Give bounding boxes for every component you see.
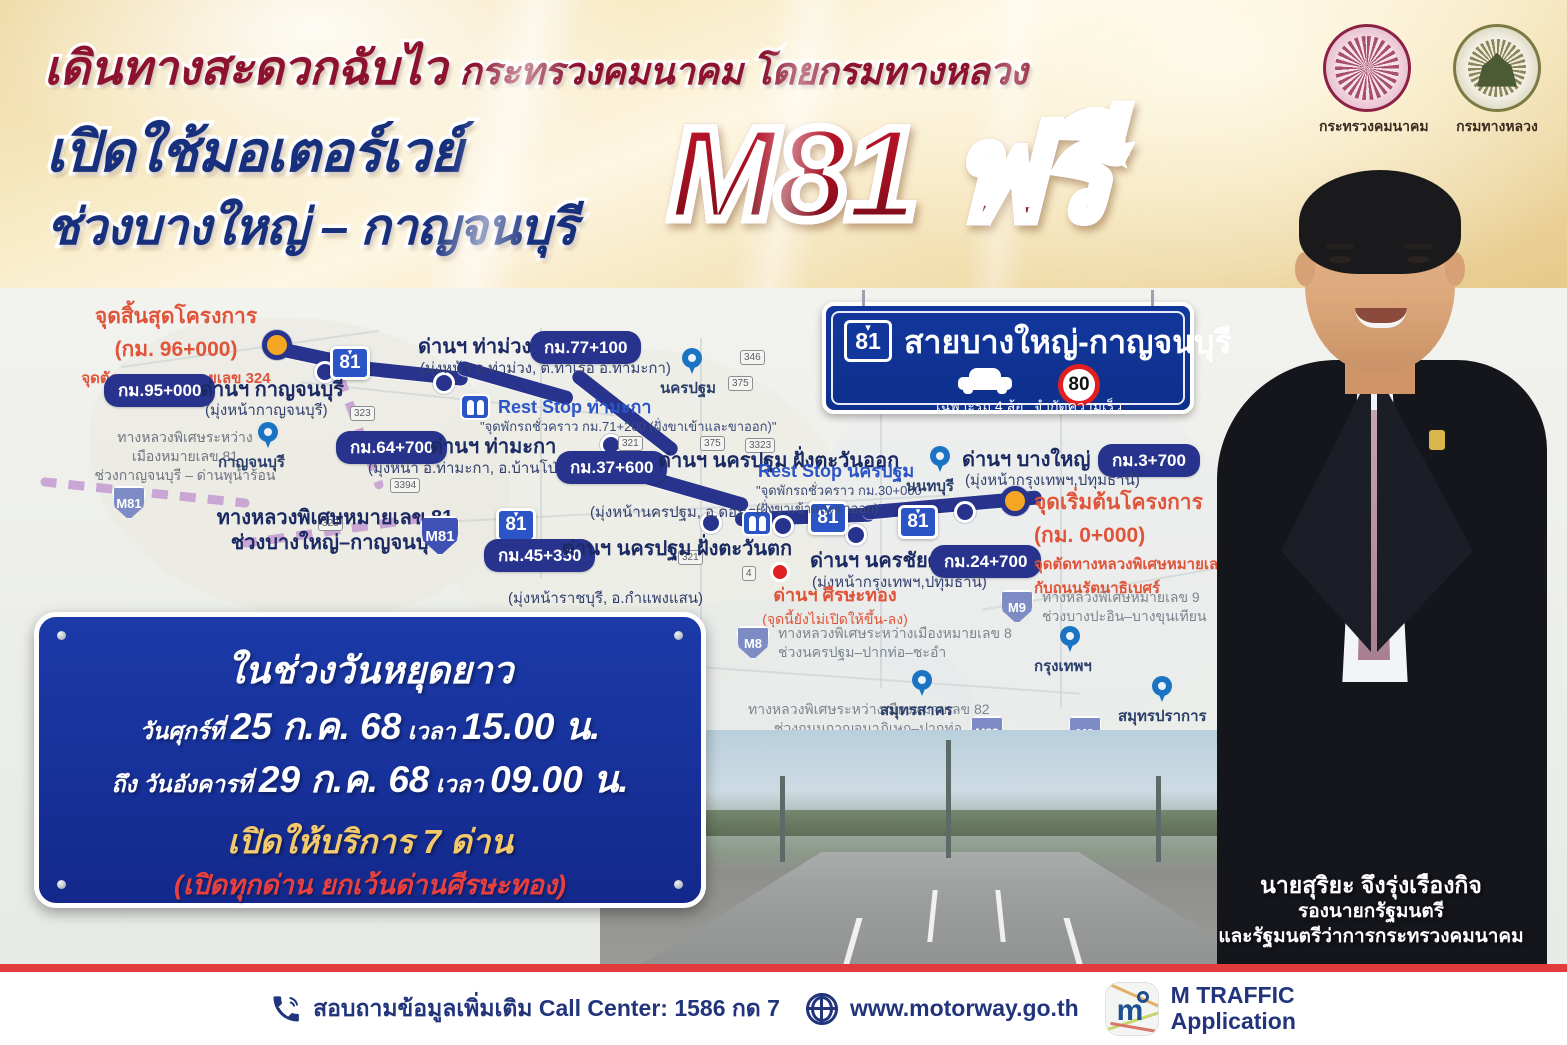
website-text: www.motorway.go.th	[850, 995, 1079, 1022]
small-route-marker: 346	[740, 350, 765, 365]
end-prefix: ถึง วันอังคารที่	[111, 771, 258, 797]
toll-km-tag: กม.37+600	[556, 451, 667, 484]
minister-title-2: และรัฐมนตรีว่าการกระทรวงคมนาคม	[1191, 925, 1551, 949]
ministry-of-transport-seal-icon	[1323, 24, 1411, 112]
panel-screw	[57, 631, 66, 640]
photo-light-pole	[946, 740, 951, 858]
minister-eye-right	[1407, 256, 1429, 263]
info-panel-toll-count: เปิดให้บริการ 7 ด่าน	[39, 815, 701, 868]
city-label-bangkok: กรุงเทพฯ	[1034, 654, 1092, 678]
car-icon	[958, 368, 1012, 394]
small-route-marker: 323	[350, 406, 375, 421]
small-route-marker: 321	[618, 436, 643, 451]
city-label-nonthaburi: นนทบุรี	[906, 474, 954, 498]
minister-brow-right	[1404, 244, 1432, 249]
end-date: 29 ก.ค. 68	[259, 759, 430, 800]
minister-name: นายสุริยะ จึงรุ่งเรืองกิจ	[1191, 871, 1551, 900]
m82-line1: ทางหลวงพิเศษระหว่างเมืองหมายเลข 82	[748, 701, 990, 717]
headline-segment: ช่วงบางใหญ่ – กาญจนบุรี	[46, 188, 576, 267]
headline-primary: เดินทางสะดวกฉับไว กระทรวงคมนาคม โดยกรมทา…	[44, 30, 1027, 105]
m8-line1: ทางหลวงพิเศษระหว่างเมืองหมายเลข 8	[778, 625, 1012, 641]
start-time: 15.00 น.	[462, 706, 600, 747]
toll-direction: (มุ่งหน้า อ.ท่ามะกา, อ.บ้านโป่ง)	[368, 456, 569, 480]
minister-eye-left	[1329, 256, 1351, 263]
footer-call-center[interactable]: สอบถามข้อมูลเพิ่มเติม Call Center: 1586 …	[271, 991, 780, 1027]
city-pin-icon	[1152, 676, 1172, 702]
route-sign-vehicle-caption: เฉพาะรถ 4 ล้อ	[936, 396, 1023, 418]
department-of-highways-seal-icon	[1453, 24, 1541, 112]
holiday-info-panel: ในช่วงวันหยุดยาว วันศุกร์ที่ 25 ก.ค. 68 …	[34, 612, 706, 908]
app-name-line1: M TRAFFIC	[1171, 983, 1296, 1009]
m-traffic-app-icon: m	[1105, 982, 1159, 1036]
m8-line2: ช่วงนครปฐม–ปากท่อ–ชะอำ	[778, 644, 946, 660]
minister-portrait	[1177, 120, 1567, 964]
app-name: M TRAFFIC Application	[1171, 983, 1296, 1035]
footer-website[interactable]: www.motorway.go.th	[806, 993, 1079, 1025]
footer-red-divider	[0, 964, 1567, 972]
toll-direction: (มุ่งหน้า อ.ท่าม่วง, ต.ท่าเรือ อ.ท่ามะกา…	[420, 356, 671, 380]
photo-light-pole	[780, 776, 785, 862]
city-label-nakhonpathom: นครปฐม	[660, 376, 716, 400]
footer-bar: สอบถามข้อมูลเพิ่มเติม Call Center: 1586 …	[0, 972, 1567, 1045]
headline-primary-text: เดินทางสะดวกฉับไว	[44, 41, 447, 94]
minister-brow-left	[1326, 244, 1354, 249]
rest-stop-detail-2: (ฝั่งขาเข้าและขาออก)"	[756, 498, 883, 519]
footer-app[interactable]: m M TRAFFIC Application	[1105, 982, 1296, 1036]
small-route-marker: 375	[728, 376, 753, 391]
route-sign-shield: ▾ 81	[844, 320, 892, 362]
toll-direction: (มุ่งหน้ากาญจนบุรี)	[205, 398, 328, 422]
shield-tick-icon: ▾	[865, 323, 871, 334]
poster-root: เดินทางสะดวกฉับไว กระทรวงคมนาคม โดยกรมทา…	[0, 0, 1567, 1045]
shield-tick-icon: ▾	[348, 348, 353, 357]
city-label-kanchanaburi: กาญจนบุรี	[218, 450, 285, 474]
city-pin-icon	[682, 348, 702, 374]
toll-km-tag: กม.95+000	[104, 374, 215, 407]
project-end-title: จุดสิ้นสุดโครงการ	[76, 300, 276, 333]
city-pin-icon	[258, 422, 278, 448]
route-81-shield: ▾ 81	[898, 505, 938, 539]
minister-credit: นายสุริยะ จึงรุ่งเรืองกิจ รองนายกรัฐมนตร…	[1191, 871, 1551, 949]
start-prefix: วันศุกร์ที่	[140, 718, 231, 744]
city-label-samutsakhon: สมุทรสาคร	[880, 698, 953, 722]
app-name-line2: Application	[1171, 1009, 1296, 1035]
toll-direction: (มุ่งหน้าราชบุรี, อ.กำแพงแสน)	[508, 586, 703, 610]
photo-roadway	[630, 852, 1270, 964]
city-pin-icon	[930, 446, 950, 472]
panel-screw	[674, 631, 683, 640]
small-route-marker: 375	[700, 436, 725, 451]
info-panel-heading: ในช่วงวันหยุดยาว	[39, 641, 701, 700]
call-center-text: สอบถามข้อมูลเพิ่มเติม Call Center: 1586 …	[313, 991, 780, 1027]
phone-icon	[271, 994, 301, 1024]
closed-toll-name: ด่านฯ ศีรษะทอง	[740, 580, 930, 609]
start-mid: เวลา	[401, 718, 462, 744]
photo-light-pole	[1156, 776, 1161, 862]
m8-label: ทางหลวงพิเศษระหว่างเมืองหมายเลข 8 ช่วงนค…	[778, 624, 1012, 662]
route-sign-speed-caption: จำกัดความเร็ว	[1034, 396, 1122, 418]
m81-main-label-line1: ทางหลวงพิเศษหมายเลข 81	[217, 507, 453, 529]
minister-lapel-pin-icon	[1429, 430, 1445, 450]
toll-name: ด่านฯ นครปฐม ฝั่งตะวันตก	[562, 538, 792, 561]
interchange-node	[845, 524, 867, 546]
minister-title-1: รองนายกรัฐมนตรี	[1191, 900, 1551, 924]
city-pin-icon	[912, 670, 932, 696]
closed-toll-marker-icon	[770, 562, 790, 582]
interchange-node	[954, 501, 976, 523]
end-mid: เวลา	[430, 771, 491, 797]
info-panel-start-row: วันศุกร์ที่ 25 ก.ค. 68 เวลา 15.00 น.	[39, 697, 701, 756]
shield-tick-icon: ▾	[514, 510, 519, 519]
info-panel-exception-note: (เปิดทุกด่าน ยกเว้นด่านศีรษะทอง)	[39, 863, 701, 906]
info-panel-end-row: ถึง วันอังคารที่ 29 ก.ค. 68 เวลา 09.00 น…	[39, 750, 701, 809]
small-route-marker: 4	[742, 566, 756, 581]
headline-secondary: เปิดใช้มอเตอร์เวย์	[46, 107, 462, 196]
small-route-marker: 3394	[390, 478, 420, 493]
globe-icon	[806, 993, 838, 1025]
route-81-shield: ▾ 81	[496, 508, 536, 542]
m81-ext-line1: ทางหลวงพิเศษระหว่าง	[117, 429, 252, 445]
m81-main-label-line2: ช่วงบางใหญ่–กาญจนบุรี	[231, 532, 440, 554]
start-date: 25 ก.ค. 68	[231, 706, 402, 747]
m81-free-title: M81 ฟรี	[668, 108, 1108, 240]
end-time: 09.00 น.	[490, 759, 628, 800]
minister-hair	[1299, 170, 1461, 274]
project-end-km: (กม. 96+000)	[76, 333, 276, 366]
headline-primary-subtext: กระทรวงคมนาคม โดยกรมทางหลวง	[459, 51, 1027, 92]
route-sign-panel: ▾ 81 สายบางใหญ่-กาญจนบุรี เฉพาะรถ 4 ล้อ …	[822, 302, 1194, 414]
shield-tick-icon: ▾	[916, 507, 921, 516]
city-pin-icon	[1060, 626, 1080, 652]
